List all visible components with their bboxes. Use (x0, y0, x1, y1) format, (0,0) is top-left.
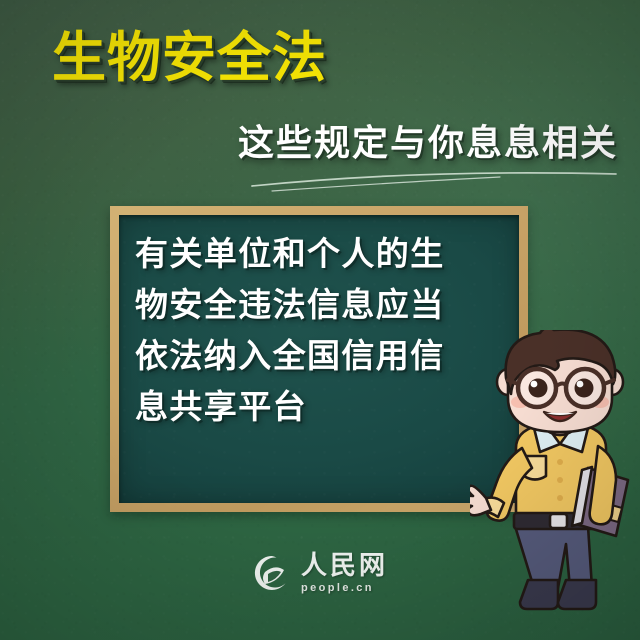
mascot-pointing-hand (470, 486, 491, 516)
people-cn-globe-icon (252, 553, 292, 593)
chalkboard-surface: 有关单位和个人的生 物安全违法信息应当 依法纳入全国信用信 息共享平台 (119, 215, 519, 503)
chalkboard-line: 息共享平台 (135, 381, 513, 432)
chalkboard: 有关单位和个人的生 物安全违法信息应当 依法纳入全国信用信 息共享平台 (110, 206, 528, 512)
page-subtitle: 这些规定与你息息相关 (238, 114, 618, 166)
mascot-eye-left (529, 379, 548, 398)
chalkboard-line: 有关单位和个人的生 (135, 228, 513, 279)
site-logo[interactable]: 人民网 people.cn (0, 552, 640, 594)
poster-canvas: 生物安全法 这些规定与你息息相关 有关单位和个人的生 物安全违法信息应当 依法纳… (0, 0, 640, 640)
chalkboard-line: 依法纳入全国信用信 (135, 330, 513, 381)
logo-text-cn: 人民网 (301, 552, 388, 578)
chalkboard-line: 物安全违法信息应当 (135, 279, 513, 330)
mascot-eye-right (575, 379, 594, 398)
logo-text-en: people.cn (301, 583, 374, 594)
chalkboard-text: 有关单位和个人的生 物安全违法信息应当 依法纳入全国信用信 息共享平台 (135, 228, 513, 432)
logo-wordmark: 人民网 people.cn (301, 552, 388, 594)
mascot-belt-buckle (550, 514, 567, 528)
page-title: 生物安全法 (52, 30, 327, 87)
